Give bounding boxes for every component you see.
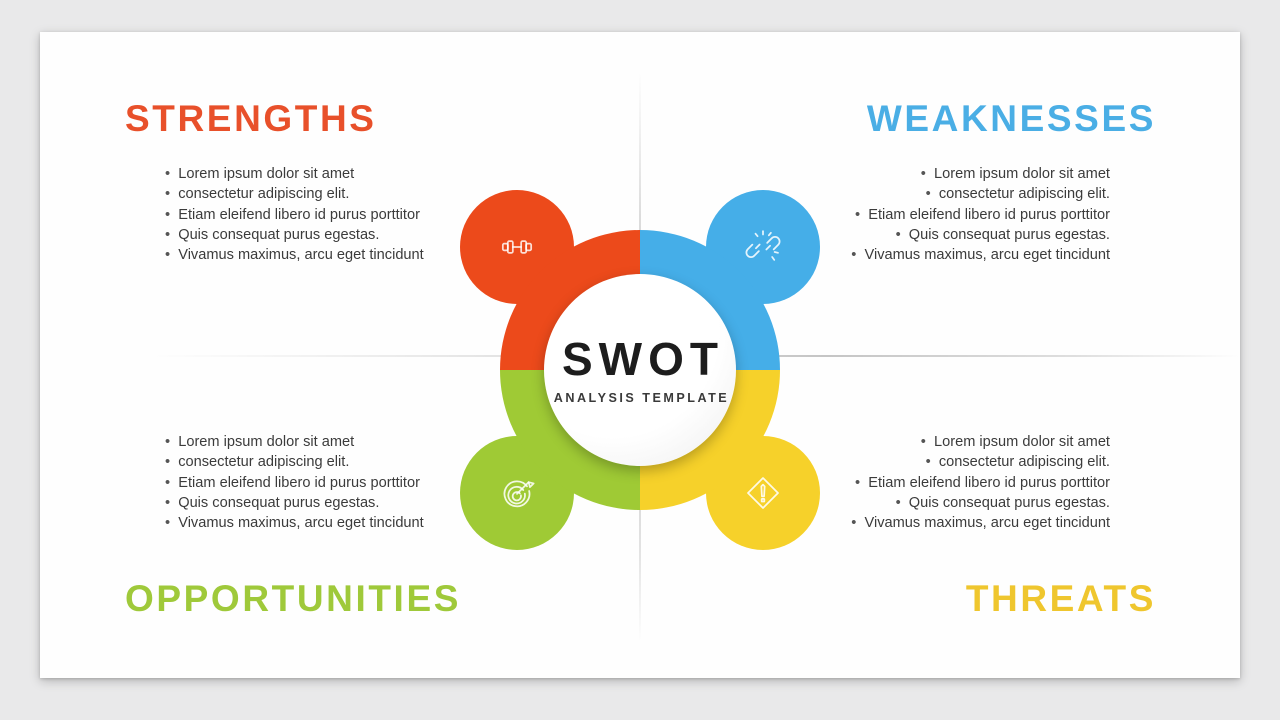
bullet-text: Quis consequat purus egestas. xyxy=(178,495,379,511)
swot-slide: STRENGTHS • Lorem ipsum dolor sit amet •… xyxy=(40,32,1240,678)
bullet-text: Etiam eleifend libero id purus porttitor xyxy=(178,475,420,491)
center-subtitle: ANALYSIS TEMPLATE xyxy=(554,391,729,405)
bullet-text: Quis consequat purus egestas. xyxy=(178,227,379,243)
center-title: SWOT xyxy=(562,336,724,382)
bullet-text: Quis consequat purus egestas. xyxy=(909,227,1110,243)
bullet-text: consectetur adipiscing elit. xyxy=(178,454,349,470)
bullet-text: consectetur adipiscing elit. xyxy=(939,186,1110,202)
heading-opportunities: OPPORTUNITIES xyxy=(125,580,520,617)
swot-diagram: SWOT ANALYSIS TEMPLATE xyxy=(452,182,828,558)
bullet-text: Vivamus maximus, arcu eget tincidunt xyxy=(865,247,1111,263)
bullet-text: Lorem ipsum dolor sit amet xyxy=(178,434,354,450)
heading-weaknesses: WEAKNESSES xyxy=(758,100,1156,137)
bullet-text: Vivamus maximus, arcu eget tincidunt xyxy=(865,515,1111,531)
bullet-text: Quis consequat purus egestas. xyxy=(909,495,1110,511)
bullet-text: Etiam eleifend libero id purus porttitor xyxy=(868,475,1110,491)
center-circle: SWOT ANALYSIS TEMPLATE xyxy=(544,274,736,466)
heading-strengths: STRENGTHS xyxy=(125,100,520,137)
bullet-text: Vivamus maximus, arcu eget tincidunt xyxy=(178,247,424,263)
bullet-text: Vivamus maximus, arcu eget tincidunt xyxy=(178,515,424,531)
bullet-text: Lorem ipsum dolor sit amet xyxy=(934,434,1110,450)
bullet-text: Etiam eleifend libero id purus porttitor xyxy=(868,207,1110,223)
bullet-text: Lorem ipsum dolor sit amet xyxy=(934,166,1110,182)
bullet-text: consectetur adipiscing elit. xyxy=(939,454,1110,470)
heading-threats: THREATS xyxy=(758,580,1156,617)
bullet-text: Lorem ipsum dolor sit amet xyxy=(178,166,354,182)
bullet-text: Etiam eleifend libero id purus porttitor xyxy=(178,207,420,223)
bullet-text: consectetur adipiscing elit. xyxy=(178,186,349,202)
